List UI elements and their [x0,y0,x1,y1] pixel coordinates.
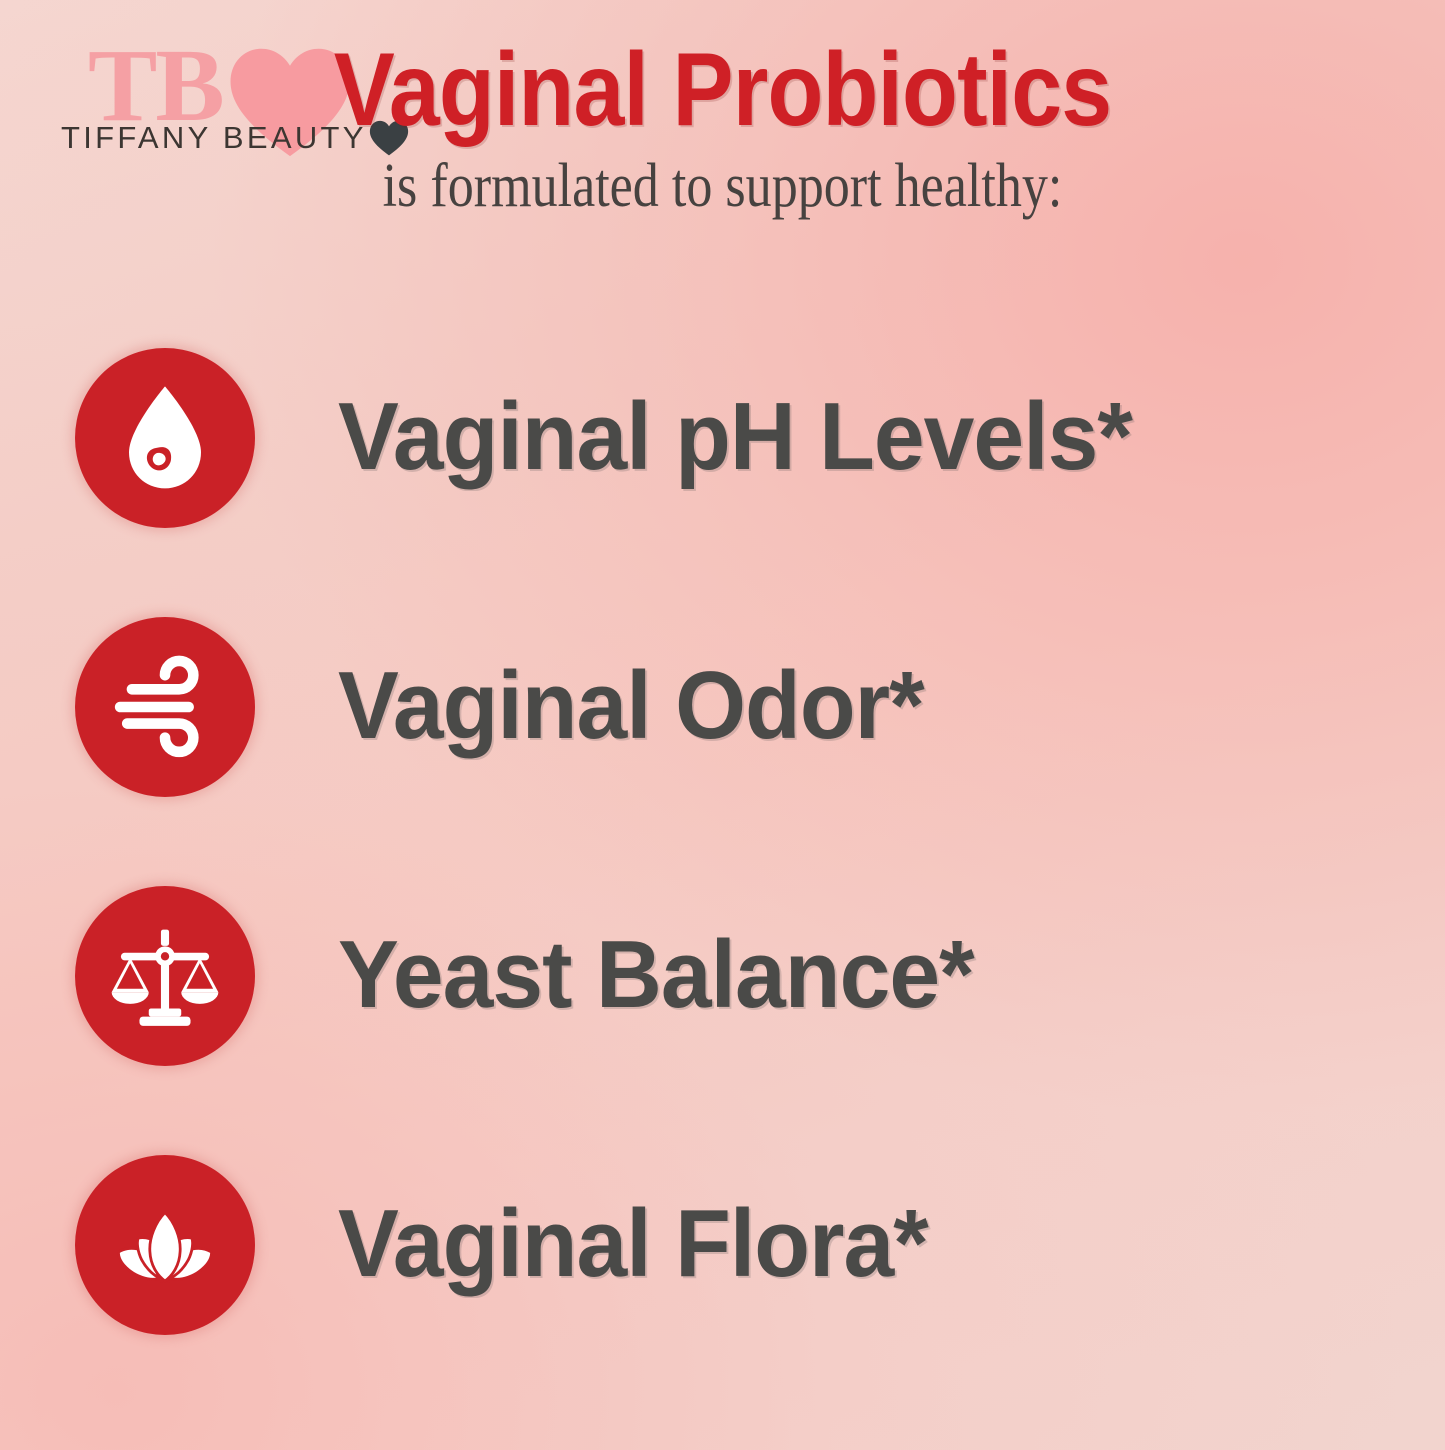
benefit-label: Vaginal Flora* [338,1188,928,1300]
lotus-flower-icon [75,1155,255,1335]
benefits-list: Vaginal pH Levels* Vaginal Odor* [0,348,1445,1424]
list-item: Vaginal Odor* [0,617,1445,886]
benefit-label: Vaginal pH Levels* [338,381,1132,493]
benefit-label: Vaginal Odor* [338,650,924,762]
water-drop-icon [75,348,255,528]
wind-icon [75,617,255,797]
page-title: Vaginal Probiotics [87,0,1359,144]
benefit-label: Yeast Balance* [338,919,974,1031]
list-item: Vaginal pH Levels* [0,348,1445,617]
list-item: Vaginal Flora* [0,1155,1445,1424]
balance-scale-icon [75,886,255,1066]
header: Vaginal Probiotics is formulated to supp… [0,0,1445,220]
list-item: Yeast Balance* [0,886,1445,1155]
promo-poster: TB TIFFANY BEAUTY Vaginal Probiotics is … [0,0,1445,1450]
page-subtitle: is formulated to support healthy: [116,144,1330,220]
